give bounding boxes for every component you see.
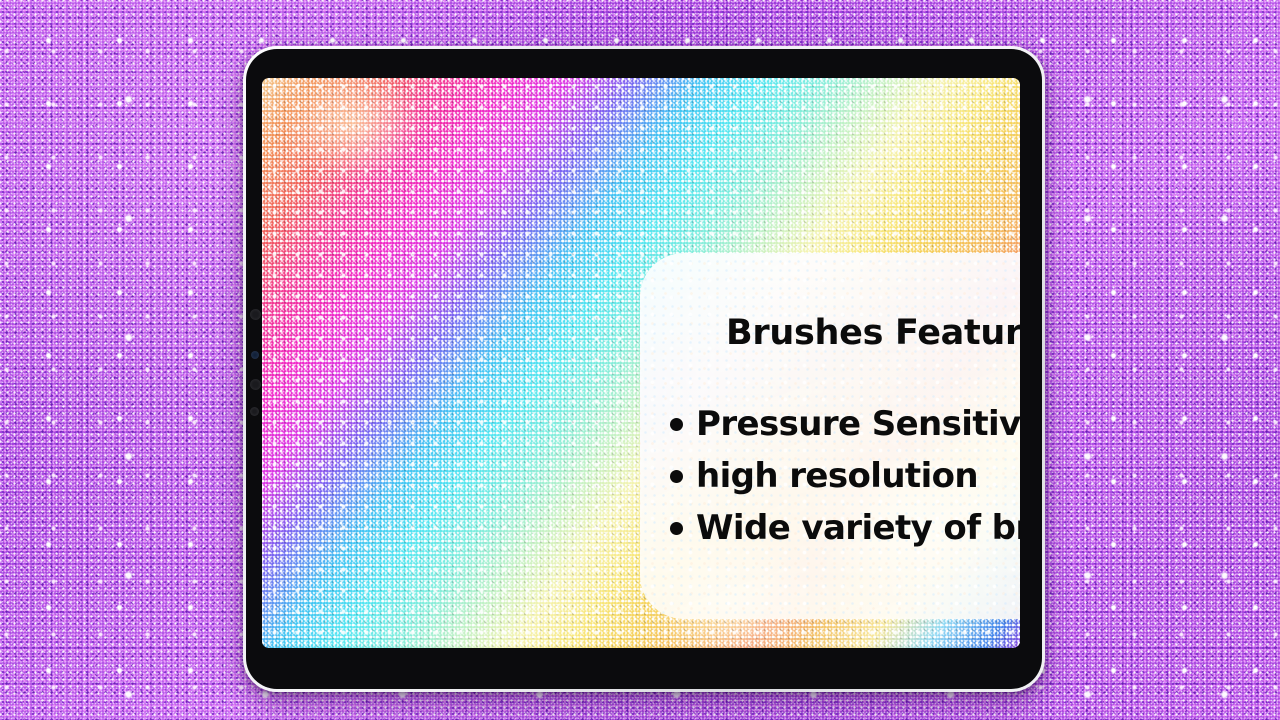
list-item: Wide variety of brushes: [670, 511, 1020, 545]
bullet-icon: [670, 470, 683, 483]
list-item: high resolution: [670, 459, 1020, 493]
slide-canvas: Brushes Features Pressure Sensitive high…: [0, 0, 1280, 720]
sensor-icon: [251, 351, 259, 359]
features-card: Brushes Features Pressure Sensitive high…: [640, 253, 1020, 619]
mic-icon: [250, 379, 261, 390]
feature-label: Wide variety of brushes: [696, 511, 1020, 545]
bullet-icon: [670, 522, 683, 535]
tablet-sensor-cluster: [248, 305, 264, 425]
feature-label: Pressure Sensitive: [696, 407, 1020, 441]
bullet-icon: [670, 418, 683, 431]
tablet-screen[interactable]: Brushes Features Pressure Sensitive high…: [262, 78, 1020, 648]
features-list: Pressure Sensitive high resolution Wide …: [670, 407, 1020, 563]
camera-icon: [250, 309, 261, 320]
ambient-sensor-icon: [250, 407, 259, 416]
card-title: Brushes Features: [640, 313, 1020, 353]
list-item: Pressure Sensitive: [670, 407, 1020, 441]
feature-label: high resolution: [696, 459, 978, 493]
